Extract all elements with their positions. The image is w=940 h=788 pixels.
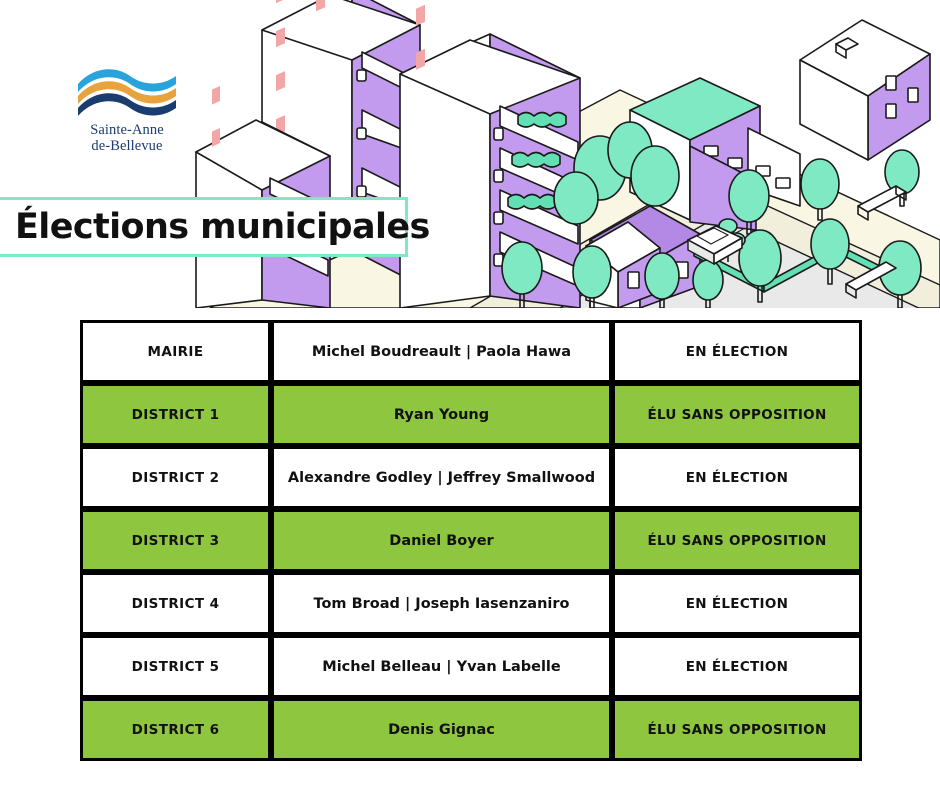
logo-waves-icon: [72, 62, 182, 120]
table-row: DISTRICT 4Tom Broad | Joseph Iasenzaniro…: [80, 572, 862, 635]
status-cell: EN ÉLECTION: [612, 320, 862, 383]
page-title-banner: Élections municipales: [0, 197, 408, 257]
table-row: DISTRICT 3Daniel BoyerÉLU SANS OPPOSITIO…: [80, 509, 862, 572]
logo-text-line1: Sainte-Anne: [72, 122, 182, 138]
district-cell: MAIRIE: [80, 320, 271, 383]
district-cell: DISTRICT 6: [80, 698, 271, 761]
house-gable-right: [800, 20, 930, 160]
table-row: DISTRICT 2Alexandre Godley | Jeffrey Sma…: [80, 446, 862, 509]
table-row: MAIRIEMichel Boudreault | Paola HawaEN É…: [80, 320, 862, 383]
status-cell: ÉLU SANS OPPOSITION: [612, 509, 862, 572]
status-cell: EN ÉLECTION: [612, 446, 862, 509]
candidates-cell: Ryan Young: [271, 383, 612, 446]
page-title: Élections municipales: [15, 207, 430, 247]
candidates-cell: Michel Belleau | Yvan Labelle: [271, 635, 612, 698]
table-row: DISTRICT 5Michel Belleau | Yvan LabelleE…: [80, 635, 862, 698]
district-cell: DISTRICT 4: [80, 572, 271, 635]
logo-text-line2: de-Bellevue: [72, 138, 182, 154]
district-cell: DISTRICT 3: [80, 509, 271, 572]
district-cell: DISTRICT 5: [80, 635, 271, 698]
status-cell: EN ÉLECTION: [612, 572, 862, 635]
building-tower-center: [400, 0, 580, 308]
election-results-table: MAIRIEMichel Boudreault | Paola HawaEN É…: [80, 320, 862, 761]
status-cell: EN ÉLECTION: [612, 635, 862, 698]
table-row: DISTRICT 6Denis GignacÉLU SANS OPPOSITIO…: [80, 698, 862, 761]
status-cell: ÉLU SANS OPPOSITION: [612, 698, 862, 761]
status-cell: ÉLU SANS OPPOSITION: [612, 383, 862, 446]
hero-banner: .ol { fill:none; stroke:#1a1a1a; stroke-…: [0, 0, 940, 308]
election-results-body: MAIRIEMichel Boudreault | Paola HawaEN É…: [80, 320, 862, 761]
candidates-cell: Tom Broad | Joseph Iasenzaniro: [271, 572, 612, 635]
sainte-anne-de-bellevue-logo: Sainte-Anne de-Bellevue: [72, 62, 182, 170]
candidates-cell: Alexandre Godley | Jeffrey Smallwood: [271, 446, 612, 509]
candidates-cell: Michel Boudreault | Paola Hawa: [271, 320, 612, 383]
district-cell: DISTRICT 2: [80, 446, 271, 509]
candidates-cell: Denis Gignac: [271, 698, 612, 761]
candidates-cell: Daniel Boyer: [271, 509, 612, 572]
district-cell: DISTRICT 1: [80, 383, 271, 446]
table-row: DISTRICT 1Ryan YoungÉLU SANS OPPOSITION: [80, 383, 862, 446]
